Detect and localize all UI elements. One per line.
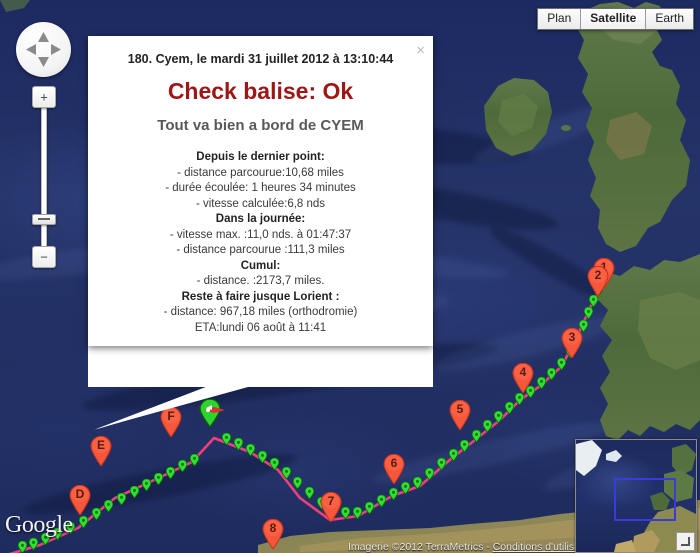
track-waypoint[interactable] <box>18 540 27 552</box>
map-marker-6[interactable]: 6 <box>383 454 405 484</box>
map-type-control[interactable]: Plan Satellite Earth <box>537 8 694 30</box>
infowindow-title: 180. Cyem, le mardi 31 juillet 2012 à 13… <box>88 52 433 66</box>
track-waypoint[interactable] <box>222 432 231 444</box>
track-waypoint[interactable] <box>154 472 163 484</box>
minimap-collapse-icon[interactable] <box>676 532 695 551</box>
detail-line: - durée écoulée: 1 heures 34 minutes <box>88 181 433 197</box>
infowindow[interactable]: × 180. Cyem, le mardi 31 juillet 2012 à … <box>88 36 433 346</box>
bottom-bar <box>0 553 700 557</box>
map-marker-d[interactable]: D <box>69 485 91 515</box>
track-waypoint[interactable] <box>104 499 113 511</box>
infowindow-tail <box>88 345 433 430</box>
pan-right-icon <box>51 44 61 55</box>
track-waypoint[interactable] <box>117 492 126 504</box>
map-marker-7[interactable]: 7 <box>320 492 342 522</box>
track-waypoint[interactable] <box>142 478 151 490</box>
track-waypoint[interactable] <box>557 357 566 369</box>
zoom-control[interactable]: + − <box>32 86 54 266</box>
detail-heading: Reste à faire jusque Lorient : <box>88 290 433 306</box>
track-waypoint[interactable] <box>79 515 88 527</box>
track-waypoint[interactable] <box>460 439 469 451</box>
track-waypoint[interactable] <box>547 367 556 379</box>
track-waypoint[interactable] <box>584 306 593 318</box>
track-waypoint[interactable] <box>178 459 187 471</box>
track-waypoint[interactable] <box>305 486 314 498</box>
overview-minimap[interactable] <box>575 439 697 553</box>
track-waypoint[interactable] <box>270 457 279 469</box>
track-waypoint[interactable] <box>190 453 199 465</box>
track-waypoint[interactable] <box>437 457 446 469</box>
map-type-earth[interactable]: Earth <box>646 9 693 29</box>
infowindow-status: Check balise: Ok <box>88 78 433 105</box>
attribution-text: Imagerie ©2012 TerraMetrics - <box>348 541 493 553</box>
detail-line: - vitesse max. :11,0 nds. à 01:47:37 <box>88 228 433 244</box>
map-marker-8[interactable]: 8 <box>262 519 284 549</box>
pan-down-icon <box>38 57 49 67</box>
detail-heading: Depuis le dernier point: <box>88 150 433 166</box>
track-waypoint[interactable] <box>130 485 139 497</box>
detail-line: - distance: 967,18 miles (orthodromie) <box>88 305 433 321</box>
map-marker-2[interactable]: 2 <box>587 266 609 296</box>
track-waypoint[interactable] <box>389 487 398 499</box>
track-waypoint[interactable] <box>341 506 350 518</box>
track-waypoint[interactable] <box>483 419 492 431</box>
detail-line: - vitesse calculée:6,8 nds <box>88 197 433 213</box>
detail-line: ETA:lundi 06 août à 11:41 <box>88 321 433 337</box>
map-marker-e[interactable]: E <box>90 436 112 466</box>
pan-control[interactable] <box>16 22 71 77</box>
track-waypoint[interactable] <box>449 448 458 460</box>
google-logo: Google <box>5 512 73 539</box>
zoom-slider-handle[interactable] <box>32 214 56 225</box>
map-marker-5[interactable]: 5 <box>449 400 471 430</box>
track-waypoint[interactable] <box>166 466 175 478</box>
map-canvas[interactable]: 12345678DEF × 180. Cyem, le mardi 31 jui… <box>0 0 700 557</box>
zoom-track[interactable] <box>41 106 47 246</box>
track-waypoint[interactable] <box>413 476 422 488</box>
track-waypoint[interactable] <box>282 466 291 478</box>
track-waypoint[interactable] <box>258 450 267 462</box>
detail-heading: Dans la journée: <box>88 212 433 228</box>
track-waypoint[interactable] <box>365 501 374 513</box>
track-waypoint[interactable] <box>505 401 514 413</box>
zoom-in-label: + <box>40 91 48 104</box>
zoom-in-button[interactable]: + <box>32 86 56 108</box>
infowindow-details: Depuis le dernier point:- distance parco… <box>88 150 433 336</box>
detail-line: - distance. :2173,7 miles. <box>88 274 433 290</box>
track-waypoint[interactable] <box>377 494 386 506</box>
track-waypoint[interactable] <box>537 376 546 388</box>
track-waypoint[interactable] <box>425 467 434 479</box>
track-waypoint[interactable] <box>92 507 101 519</box>
track-waypoint[interactable] <box>234 437 243 449</box>
attribution: Imagerie ©2012 TerraMetrics - Conditions… <box>348 541 597 553</box>
map-type-plan[interactable]: Plan <box>538 9 581 29</box>
detail-heading: Cumul: <box>88 259 433 275</box>
track-waypoint[interactable] <box>515 392 524 404</box>
detail-line: - distance parcourue :111,3 miles <box>88 243 433 259</box>
close-icon[interactable]: × <box>416 46 425 56</box>
track-waypoint[interactable] <box>472 429 481 441</box>
track-waypoint[interactable] <box>494 410 503 422</box>
track-waypoint[interactable] <box>293 476 302 488</box>
pan-left-icon <box>26 44 36 55</box>
infowindow-subtitle: Tout va bien a bord de CYEM <box>88 117 433 134</box>
map-type-satellite[interactable]: Satellite <box>581 9 646 29</box>
map-marker-3[interactable]: 3 <box>561 328 583 358</box>
map-marker-4[interactable]: 4 <box>512 363 534 393</box>
zoom-out-button[interactable]: − <box>32 246 56 268</box>
track-waypoint[interactable] <box>246 443 255 455</box>
track-waypoint[interactable] <box>353 506 362 518</box>
pan-up-icon <box>38 32 49 42</box>
minimap-viewport[interactable] <box>614 478 676 521</box>
zoom-out-label: − <box>40 251 48 264</box>
detail-line: - distance parcourue:10,68 miles <box>88 166 433 182</box>
